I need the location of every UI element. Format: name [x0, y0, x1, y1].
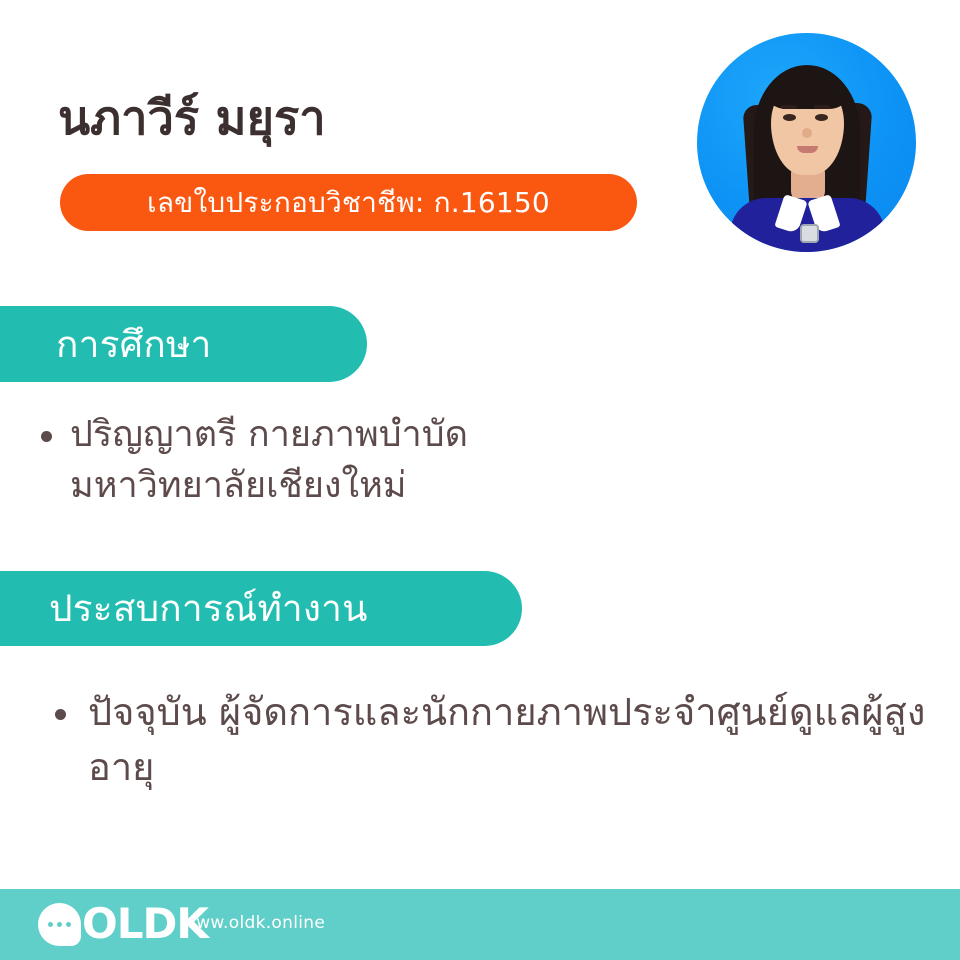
- card-footer: OLDK www.oldk.online LINE @oldk f OLDK.o…: [0, 889, 960, 960]
- section-title-education: การศึกษา: [56, 315, 212, 374]
- avatar: [697, 33, 916, 252]
- avatar-eyebrow-right: [814, 105, 830, 109]
- avatar-fringe: [767, 73, 848, 109]
- section-header-education: การศึกษา: [0, 306, 367, 382]
- chat-bubble-icon: [38, 903, 81, 946]
- avatar-eyebrow-left: [781, 105, 797, 109]
- avatar-brooch: [800, 224, 819, 243]
- bubble-dot: [48, 922, 53, 927]
- card-header: นภาวีร์ มยุรา เลขใบประกอบวิชาชีพ: ก.1615…: [0, 0, 960, 290]
- bubble-dot: [66, 922, 71, 927]
- section-title-experience: ประสบการณ์ทำงาน: [49, 579, 368, 638]
- section-header-experience: ประสบการณ์ทำงาน: [0, 571, 522, 646]
- license-badge: เลขใบประกอบวิชาชีพ: ก.16150: [60, 174, 637, 231]
- avatar-illustration: [697, 33, 916, 252]
- experience-list: ปัจจุบัน ผู้จัดการและนักกายภาพประจำศูนย์…: [46, 685, 926, 794]
- page-title: นภาวีร์ มยุรา: [58, 93, 326, 145]
- bubble-dot: [57, 922, 62, 927]
- list-item: ปัจจุบัน ผู้จัดการและนักกายภาพประจำศูนย์…: [46, 685, 926, 794]
- list-item: ปริญญาตรี กายภาพบำบัด มหาวิทยาลัยเชียงให…: [28, 409, 588, 511]
- license-badge-label: เลขใบประกอบวิชาชีพ: ก.16150: [147, 181, 550, 225]
- avatar-nose: [802, 128, 812, 138]
- profile-card: นภาวีร์ มยุรา เลขใบประกอบวิชาชีพ: ก.1615…: [0, 0, 960, 960]
- education-list: ปริญญาตรี กายภาพบำบัด มหาวิทยาลัยเชียงให…: [28, 409, 588, 511]
- website-url: www.oldk.online: [182, 913, 325, 933]
- avatar-eye-left: [783, 114, 796, 121]
- avatar-eye-right: [815, 114, 828, 121]
